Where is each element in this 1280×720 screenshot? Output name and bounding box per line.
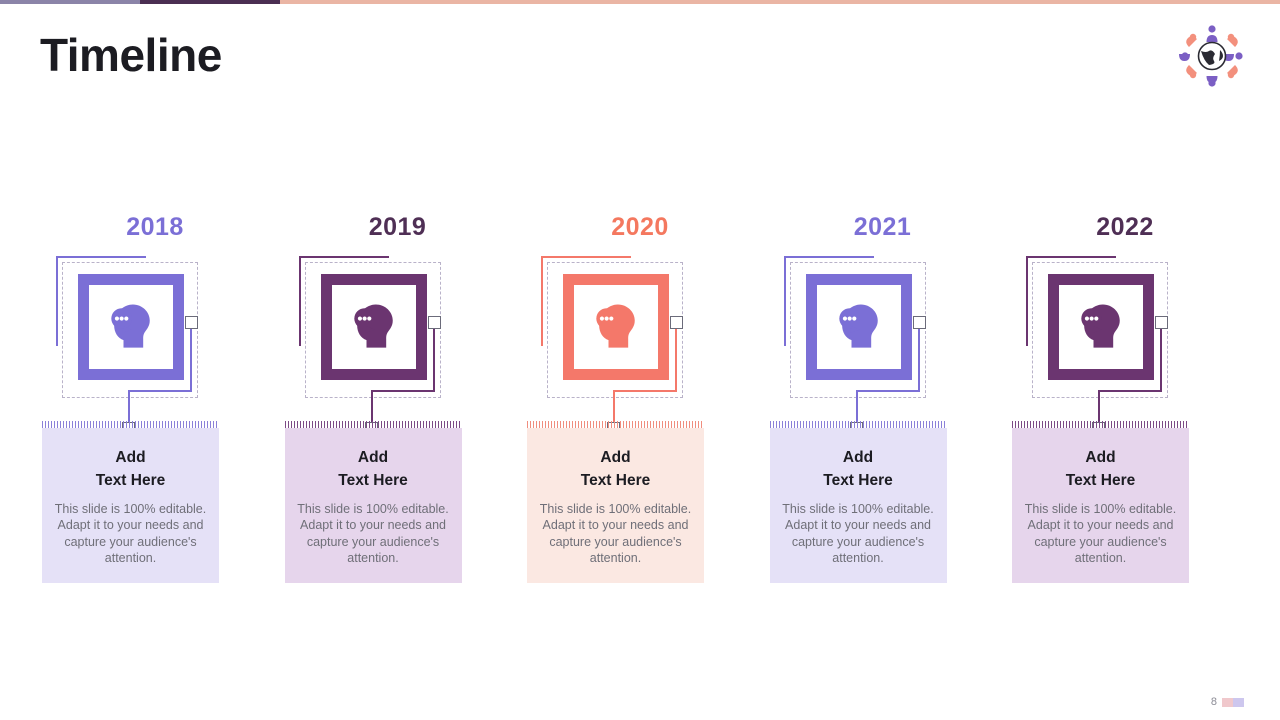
icon-frame bbox=[563, 274, 669, 380]
card-body-text: This slide is 100% editable. Adapt it to… bbox=[54, 501, 207, 567]
card-stripe-border bbox=[285, 421, 462, 428]
page-number-bar bbox=[1222, 698, 1244, 707]
connector-node-side bbox=[185, 316, 198, 329]
head-speech-bubble-icon bbox=[344, 297, 404, 357]
card-heading: Add Text Here bbox=[54, 446, 207, 493]
icon-frame bbox=[321, 274, 427, 380]
timeline-item[interactable]: 2021Add Text HereThis slide is 100% edit… bbox=[768, 210, 998, 610]
timeline-item[interactable]: 2022Add Text HereThis slide is 100% edit… bbox=[1010, 210, 1240, 610]
timeline-year: 2022 bbox=[1010, 210, 1240, 244]
connector-node-side bbox=[670, 316, 683, 329]
globe-people-icon bbox=[1176, 20, 1248, 92]
timeline-year: 2018 bbox=[40, 210, 270, 244]
card-heading: Add Text Here bbox=[1024, 446, 1177, 493]
connector-horizontal bbox=[128, 390, 192, 392]
page-title: Timeline bbox=[40, 30, 222, 81]
connector-horizontal bbox=[856, 390, 920, 392]
head-speech-bubble-icon bbox=[101, 297, 161, 357]
page-bar-pink bbox=[1222, 698, 1233, 707]
timeline-card[interactable]: Add Text HereThis slide is 100% editable… bbox=[42, 428, 219, 583]
timeline-card[interactable]: Add Text HereThis slide is 100% editable… bbox=[1012, 428, 1189, 583]
timeline-year: 2020 bbox=[525, 210, 755, 244]
icon-frame bbox=[78, 274, 184, 380]
card-body-text: This slide is 100% editable. Adapt it to… bbox=[1024, 501, 1177, 567]
connector-horizontal bbox=[1098, 390, 1162, 392]
timeline-icon-zone bbox=[768, 254, 998, 424]
timeline-icon-zone bbox=[283, 254, 513, 424]
card-stripe-border bbox=[1012, 421, 1189, 428]
card-heading: Add Text Here bbox=[539, 446, 692, 493]
card-stripe-border bbox=[527, 421, 704, 428]
card-heading: Add Text Here bbox=[297, 446, 450, 493]
connector-node-side bbox=[428, 316, 441, 329]
timeline-icon-zone bbox=[40, 254, 270, 424]
icon-frame bbox=[1048, 274, 1154, 380]
timeline-item[interactable]: 2020Add Text HereThis slide is 100% edit… bbox=[525, 210, 755, 610]
card-heading: Add Text Here bbox=[782, 446, 935, 493]
head-speech-bubble-icon bbox=[1071, 297, 1131, 357]
timeline-item[interactable]: 2019Add Text HereThis slide is 100% edit… bbox=[283, 210, 513, 610]
card-stripe-border bbox=[42, 421, 219, 428]
timeline-year: 2019 bbox=[283, 210, 513, 244]
page-bar-lavender bbox=[1233, 698, 1244, 707]
accent-segment-3 bbox=[280, 0, 1280, 4]
connector-horizontal bbox=[613, 390, 677, 392]
card-body-text: This slide is 100% editable. Adapt it to… bbox=[297, 501, 450, 567]
accent-segment-2 bbox=[140, 0, 280, 4]
top-accent-bar bbox=[0, 0, 1280, 4]
connector-node-side bbox=[1155, 316, 1168, 329]
page-number-value: 8 bbox=[1211, 696, 1217, 708]
timeline-icon-zone bbox=[525, 254, 755, 424]
page-number: 8 bbox=[1211, 696, 1244, 708]
timeline-container: 2018Add Text HereThis slide is 100% edit… bbox=[40, 210, 1240, 610]
connector-node-side bbox=[913, 316, 926, 329]
accent-segment-1 bbox=[0, 0, 140, 4]
connector-horizontal bbox=[371, 390, 435, 392]
card-body-text: This slide is 100% editable. Adapt it to… bbox=[539, 501, 692, 567]
icon-frame bbox=[806, 274, 912, 380]
card-body-text: This slide is 100% editable. Adapt it to… bbox=[782, 501, 935, 567]
timeline-item[interactable]: 2018Add Text HereThis slide is 100% edit… bbox=[40, 210, 270, 610]
card-stripe-border bbox=[770, 421, 947, 428]
timeline-card[interactable]: Add Text HereThis slide is 100% editable… bbox=[770, 428, 947, 583]
head-speech-bubble-icon bbox=[586, 297, 646, 357]
timeline-icon-zone bbox=[1010, 254, 1240, 424]
timeline-card[interactable]: Add Text HereThis slide is 100% editable… bbox=[285, 428, 462, 583]
timeline-card[interactable]: Add Text HereThis slide is 100% editable… bbox=[527, 428, 704, 583]
head-speech-bubble-icon bbox=[829, 297, 889, 357]
timeline-year: 2021 bbox=[768, 210, 998, 244]
